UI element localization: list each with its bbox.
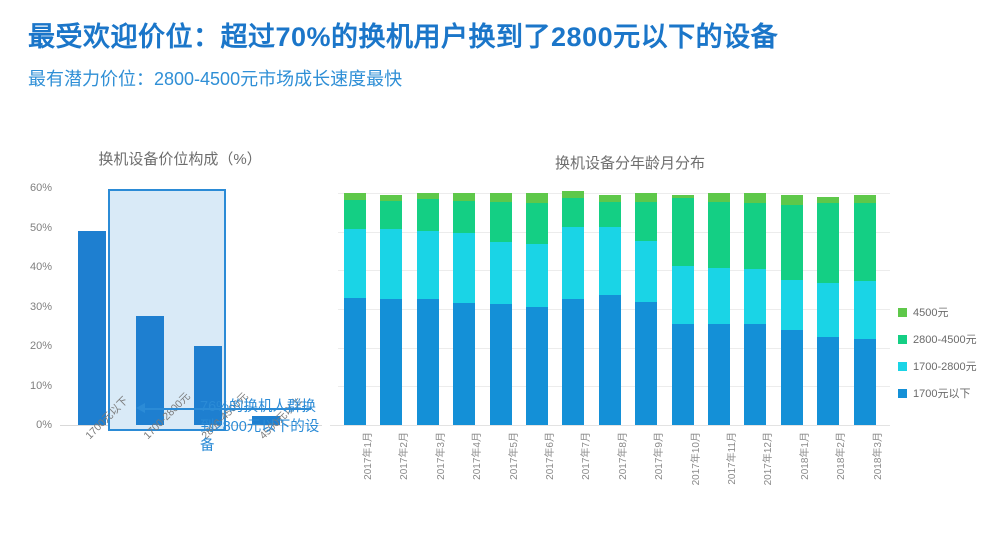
bar-segment [708, 202, 730, 268]
legend-item[interactable]: 1700-2800元 [898, 358, 998, 374]
right-chart-x-tick: 2017年1月 [359, 432, 374, 480]
bar-segment [672, 266, 694, 324]
age-month-distribution-chart: 2017年1月2017年2月2017年3月2017年4月2017年5月2017年… [330, 188, 900, 433]
header: 最受欢迎价位：超过70%的换机用户换到了2800元以下的设备 最有潜力价位：28… [28, 22, 978, 91]
bar-segment [380, 229, 402, 299]
bar-segment [635, 302, 657, 425]
right-chart-x-tick: 2017年2月 [395, 432, 410, 480]
bar-segment [599, 202, 621, 227]
stacked-bar [635, 193, 657, 425]
stacked-bar [599, 195, 621, 425]
legend-swatch-icon [898, 335, 907, 344]
left-chart-title: 换机设备价位构成（%） [40, 148, 320, 169]
right-chart-x-tick: 2017年12月 [759, 432, 774, 485]
bar-segment [744, 269, 766, 325]
page-subtitle: 最有潜力价位：2800-4500元市场成长速度最快 [28, 65, 978, 91]
bar-segment [526, 307, 548, 425]
left-chart-y-tick: 0% [36, 419, 52, 431]
legend-item[interactable]: 2800-4500元 [898, 331, 998, 347]
bar-segment [344, 193, 366, 200]
right-chart-x-tick: 2018年1月 [796, 432, 811, 480]
bar-segment [781, 280, 803, 330]
bar-segment [417, 299, 439, 425]
chart-legend: 4500元2800-4500元1700-2800元1700元以下 [898, 304, 998, 412]
bar-segment [635, 193, 657, 202]
bar-segment [708, 268, 730, 324]
bar-segment [453, 201, 475, 233]
stacked-bar [380, 195, 402, 425]
bar-segment [781, 195, 803, 205]
bar-segment [453, 233, 475, 303]
bar-segment [599, 195, 621, 202]
stacked-bar [817, 197, 839, 425]
legend-item[interactable]: 4500元 [898, 304, 998, 320]
legend-swatch-icon [898, 362, 907, 371]
bar-segment [380, 201, 402, 229]
stacked-bar [854, 195, 876, 425]
legend-item-label: 4500元 [913, 304, 948, 320]
bar-segment [562, 227, 584, 299]
legend-swatch-icon [898, 308, 907, 317]
bar-segment [599, 227, 621, 296]
bar-segment [817, 337, 839, 425]
right-chart-x-tick: 2017年8月 [614, 432, 629, 480]
bar-segment [854, 281, 876, 339]
right-chart-x-tick: 2018年2月 [832, 432, 847, 480]
stacked-bar [562, 191, 584, 425]
bar-segment [344, 229, 366, 298]
bar-segment [744, 203, 766, 269]
left-chart-y-tick: 40% [30, 261, 52, 273]
left-chart-y-tick: 50% [30, 222, 52, 234]
bar-segment [817, 203, 839, 283]
right-chart-title: 换机设备分年龄月分布 [470, 152, 790, 173]
left-chart-y-tick: 20% [30, 340, 52, 352]
right-chart-x-tick: 2017年6月 [541, 432, 556, 480]
left-chart-y-tick: 30% [30, 301, 52, 313]
bar-segment [526, 203, 548, 244]
bar-segment [854, 339, 876, 425]
page-title: 最受欢迎价位：超过70%的换机用户换到了2800元以下的设备 [28, 22, 978, 53]
stacked-bar [744, 193, 766, 425]
bar-segment [781, 205, 803, 280]
bar-segment [817, 197, 839, 203]
right-chart-x-tick: 2017年3月 [432, 432, 447, 480]
bar-segment [672, 195, 694, 199]
bar-segment [817, 283, 839, 337]
bar-segment [562, 198, 584, 227]
annotation-arrow-icon [136, 403, 145, 413]
right-chart-x-tick: 2018年3月 [869, 432, 884, 480]
bar-segment [344, 298, 366, 425]
bar-segment [708, 193, 730, 202]
bar-segment [490, 304, 512, 425]
legend-item-label: 1700-2800元 [913, 358, 977, 374]
bar-segment [672, 198, 694, 266]
right-chart-x-tick: 2017年9月 [650, 432, 665, 480]
annotation-text: 76%的换机人群换到2800元以下的设备 [200, 398, 328, 457]
right-chart-baseline [330, 425, 890, 426]
bar-segment [417, 231, 439, 299]
left-chart-y-tick: 60% [30, 182, 52, 194]
stacked-bar [526, 193, 548, 425]
right-chart-x-tick: 2017年11月 [723, 432, 738, 485]
bar-segment [672, 324, 694, 425]
bar-segment [490, 202, 512, 242]
bar-segment [380, 299, 402, 425]
bar-segment [453, 303, 475, 425]
stacked-bar [708, 193, 730, 425]
stacked-bar [417, 193, 439, 425]
stacked-bar [781, 195, 803, 425]
stacked-bar [453, 193, 475, 425]
price-composition-chart: 0%10%20%30%40%50%60% 1700元以下1700-2800元28… [14, 188, 334, 433]
left-chart-y-tick: 10% [30, 380, 52, 392]
right-chart-x-tick: 2017年7月 [577, 432, 592, 480]
right-chart-x-tick: 2017年10月 [687, 432, 702, 485]
legend-swatch-icon [898, 389, 907, 398]
bar-segment [562, 299, 584, 425]
bar-segment [344, 200, 366, 230]
bar-segment [562, 191, 584, 198]
bar-segment [380, 195, 402, 201]
bar-segment [708, 324, 730, 425]
right-chart-x-tick: 2017年5月 [505, 432, 520, 480]
bar [78, 231, 106, 425]
stacked-bar [672, 195, 694, 425]
bar-segment [490, 193, 512, 202]
legend-item-label: 1700元以下 [913, 385, 970, 401]
bar-segment [781, 330, 803, 425]
bar-segment [490, 242, 512, 304]
bar-segment [854, 203, 876, 280]
bar-segment [526, 244, 548, 307]
legend-item[interactable]: 1700元以下 [898, 385, 998, 401]
bar-segment [744, 193, 766, 203]
bar-segment [417, 193, 439, 199]
left-chart-plot-area [60, 193, 315, 425]
right-chart-x-tick: 2017年4月 [468, 432, 483, 480]
bar-segment [854, 195, 876, 204]
bar-segment [453, 193, 475, 201]
left-chart-y-axis: 0%10%20%30%40%50%60% [14, 188, 58, 425]
bar-segment [635, 202, 657, 242]
right-chart-plot-area [338, 193, 890, 425]
legend-item-label: 2800-4500元 [913, 331, 977, 347]
bar-segment [526, 193, 548, 203]
bar-segment [635, 241, 657, 302]
stacked-bar [490, 193, 512, 425]
bar-segment [417, 199, 439, 231]
slide-root: 最受欢迎价位：超过70%的换机用户换到了2800元以下的设备 最有潜力价位：28… [0, 0, 1000, 539]
bar-segment [744, 324, 766, 425]
bar-segment [599, 295, 621, 425]
stacked-bar [344, 193, 366, 425]
